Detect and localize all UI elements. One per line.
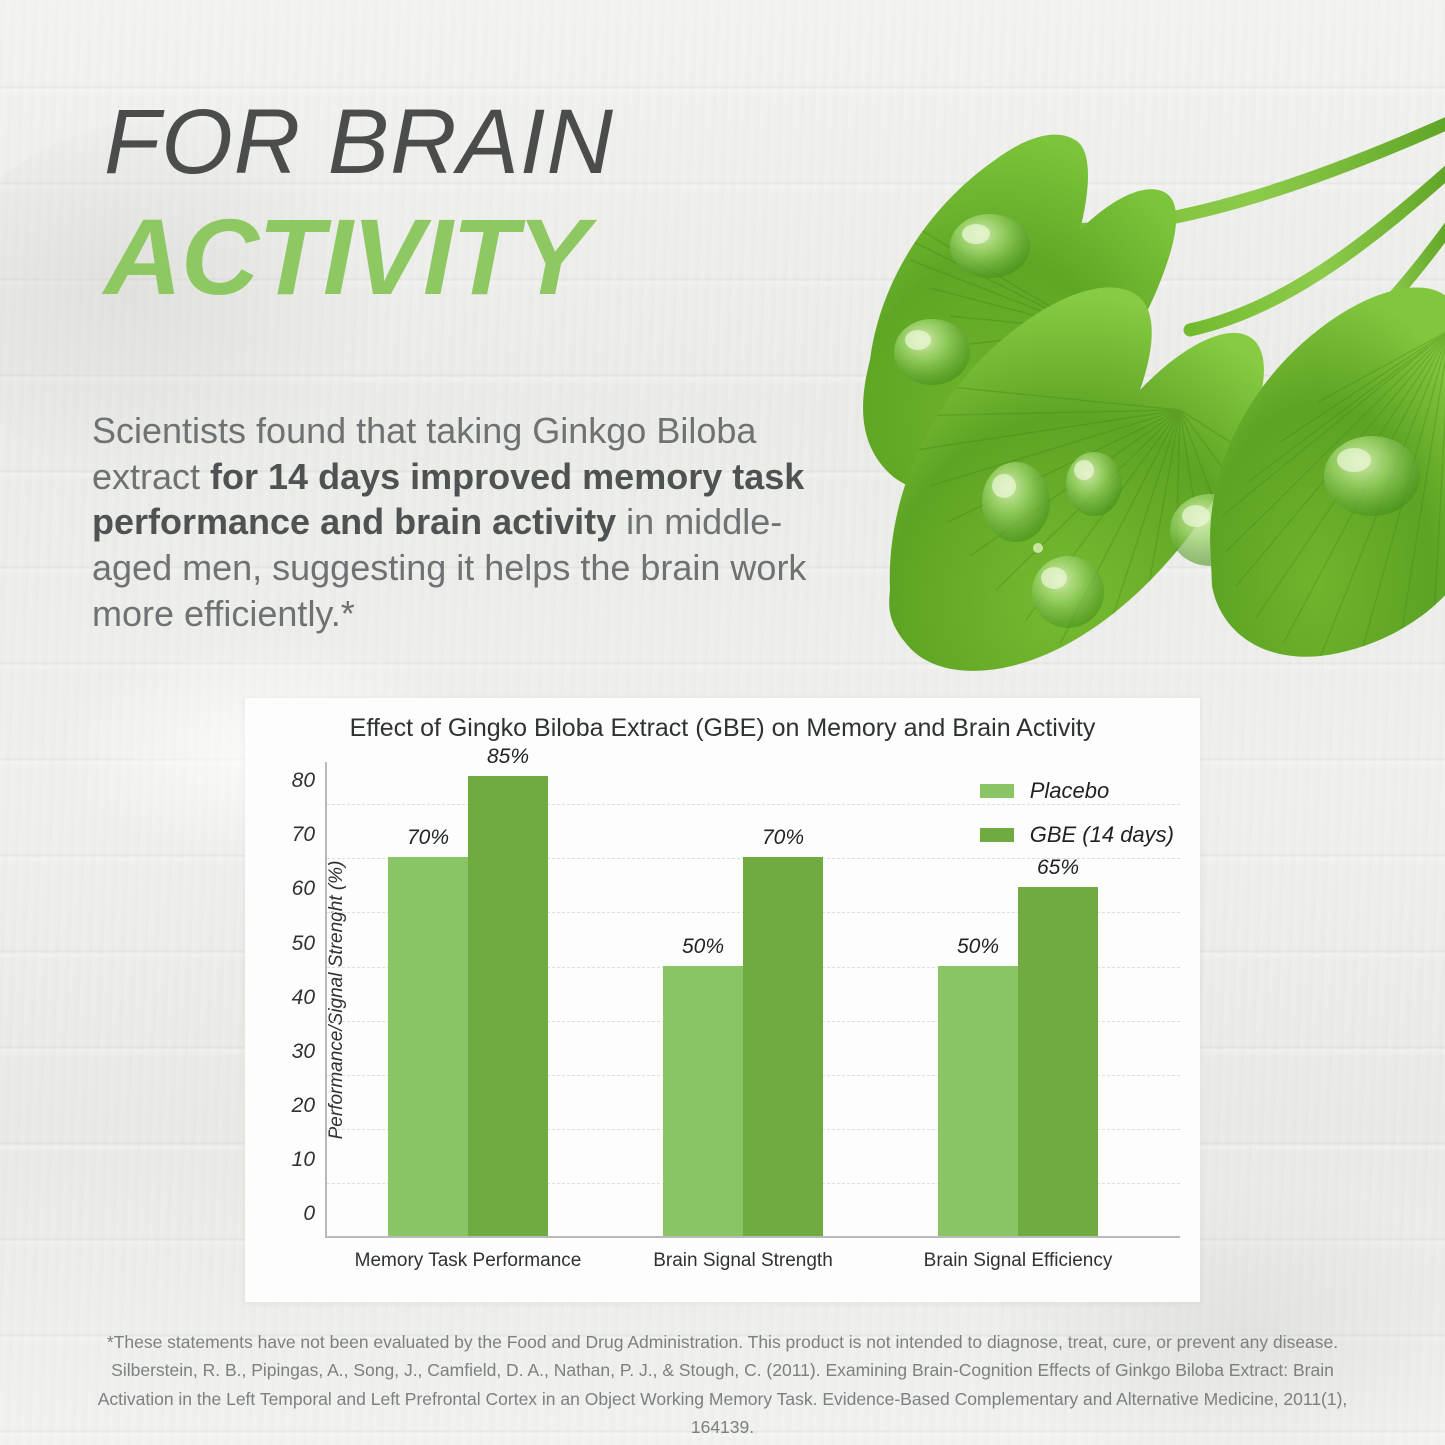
x-category-label: Brain Signal Strength (653, 1250, 833, 1272)
footnote-line-1: *These statements have not been evaluate… (50, 1328, 1395, 1356)
x-category-label: Memory Task Performance (355, 1250, 582, 1272)
bar-value-label: 70% (407, 826, 449, 850)
bar-value-label: 85% (487, 745, 529, 769)
footnote-line-4: 164139. (50, 1413, 1395, 1441)
chart-panel: Effect of Gingko Biloba Extract (GBE) on… (245, 698, 1200, 1302)
bar-placebo: 50% (663, 966, 743, 1236)
x-axis-line (325, 1236, 1180, 1238)
bar-group: 50%70%Brain Signal Strength (663, 760, 823, 1236)
chart-plot-area: Performance/Signal Strenght (%) 01020304… (325, 762, 1180, 1238)
legend-swatch-icon (980, 784, 1014, 798)
y-tick-label: 50 (292, 932, 315, 956)
y-tick-label: 60 (292, 877, 315, 901)
y-tick-label: 40 (292, 986, 315, 1010)
legend-item[interactable]: Placebo (980, 778, 1174, 804)
bar-gbe: 65% (1018, 887, 1098, 1236)
chart-legend: PlaceboGBE (14 days) (980, 778, 1174, 866)
y-tick-label: 0 (303, 1202, 315, 1226)
bar-placebo: 50% (938, 966, 1018, 1236)
water-droplet (1033, 543, 1043, 553)
headline-line-1: FOR BRAIN (104, 96, 864, 188)
y-tick-label: 10 (292, 1148, 315, 1172)
water-droplet (982, 462, 1050, 542)
bar-value-label: 50% (682, 935, 724, 959)
y-tick-label: 80 (292, 769, 315, 793)
bar-value-label: 70% (762, 826, 804, 850)
bar-gbe: 85% (468, 776, 548, 1236)
water-droplet (894, 319, 970, 385)
water-droplet (1324, 436, 1420, 516)
legend-item[interactable]: GBE (14 days) (980, 822, 1174, 848)
legend-label: GBE (14 days) (1030, 822, 1174, 848)
bar-value-label: 50% (957, 935, 999, 959)
headline-line-2: ACTIVITY (104, 200, 864, 313)
y-tick-label: 20 (292, 1094, 315, 1118)
legend-swatch-icon (980, 828, 1014, 842)
headline-block: FOR BRAIN ACTIVITY (104, 96, 864, 313)
footnote-line-3: Activation in the Left Temporal and Left… (50, 1385, 1395, 1413)
x-category-label: Brain Signal Efficiency (924, 1250, 1113, 1272)
water-droplet (1066, 452, 1122, 516)
water-droplet (950, 214, 1030, 278)
footnote-block: *These statements have not been evaluate… (50, 1328, 1395, 1441)
bar-placebo: 70% (388, 857, 468, 1236)
y-tick-label: 30 (292, 1040, 315, 1064)
legend-label: Placebo (1030, 778, 1110, 804)
bar-gbe: 70% (743, 857, 823, 1236)
body-copy: Scientists found that taking Ginkgo Bilo… (92, 408, 822, 637)
y-tick-label: 70 (292, 823, 315, 847)
footnote-line-2: Silberstein, R. B., Pipingas, A., Song, … (50, 1356, 1395, 1384)
y-axis-line (325, 762, 327, 1238)
water-droplet (1032, 556, 1104, 628)
bar-group: 70%85%Memory Task Performance (388, 760, 548, 1236)
chart-title: Effect of Gingko Biloba Extract (GBE) on… (245, 714, 1200, 743)
